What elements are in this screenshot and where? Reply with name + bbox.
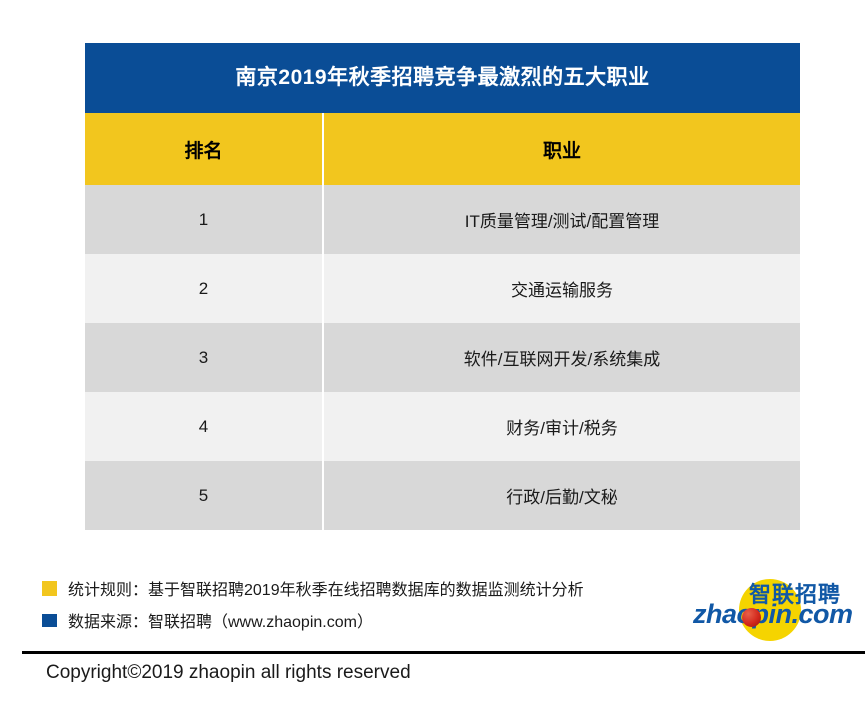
- table-row: 2 交通运输服务: [85, 254, 800, 323]
- note-line-statistics-rule: 统计规则：基于智联招聘2019年秋季在线招聘数据库的数据监测统计分析: [42, 572, 682, 604]
- table-row: 5 行政/后勤/文秘: [85, 461, 800, 530]
- table-row: 1 IT质量管理/测试/配置管理: [85, 185, 800, 254]
- square-bullet-icon: [42, 614, 57, 627]
- ranking-table: 南京2019年秋季招聘竞争最激烈的五大职业 排名 职业 1 IT质量管理/测试/…: [85, 43, 800, 530]
- note-line-data-source: 数据来源：智联招聘（www.zhaopin.com）: [42, 604, 682, 636]
- table-row: 4 财务/审计/税务: [85, 392, 800, 461]
- cell-job: 财务/审计/税务: [324, 392, 800, 461]
- cell-job: IT质量管理/测试/配置管理: [324, 185, 800, 254]
- column-header-job: 职业: [324, 113, 800, 185]
- copyright-text: Copyright©2019 zhaopin all rights reserv…: [46, 662, 411, 684]
- footer-divider: [22, 651, 865, 654]
- table-header-row: 排名 职业: [85, 113, 800, 185]
- notes-block: 统计规则：基于智联招聘2019年秋季在线招聘数据库的数据监测统计分析 数据来源：…: [42, 572, 682, 636]
- cell-job: 软件/互联网开发/系统集成: [324, 323, 800, 392]
- cell-rank: 4: [85, 392, 324, 461]
- table-row: 3 软件/互联网开发/系统集成: [85, 323, 800, 392]
- cell-job: 行政/后勤/文秘: [324, 461, 800, 530]
- note-text: 数据来源：智联招聘（www.zhaopin.com）: [68, 608, 373, 632]
- square-bullet-icon: [42, 581, 57, 596]
- cell-rank: 3: [85, 323, 324, 392]
- cell-rank: 2: [85, 254, 324, 323]
- table-title: 南京2019年秋季招聘竞争最激烈的五大职业: [85, 43, 800, 113]
- zhaopin-logo: 智联招聘 zhaopin.com: [693, 565, 859, 645]
- cell-rank: 1: [85, 185, 324, 254]
- logo-domain-text: zhaopin.com: [693, 599, 853, 630]
- note-text: 统计规则：基于智联招聘2019年秋季在线招聘数据库的数据监测统计分析: [68, 576, 584, 600]
- column-header-rank: 排名: [85, 113, 324, 185]
- logo-red-dot-icon: [742, 608, 761, 627]
- cell-job: 交通运输服务: [324, 254, 800, 323]
- cell-rank: 5: [85, 461, 324, 530]
